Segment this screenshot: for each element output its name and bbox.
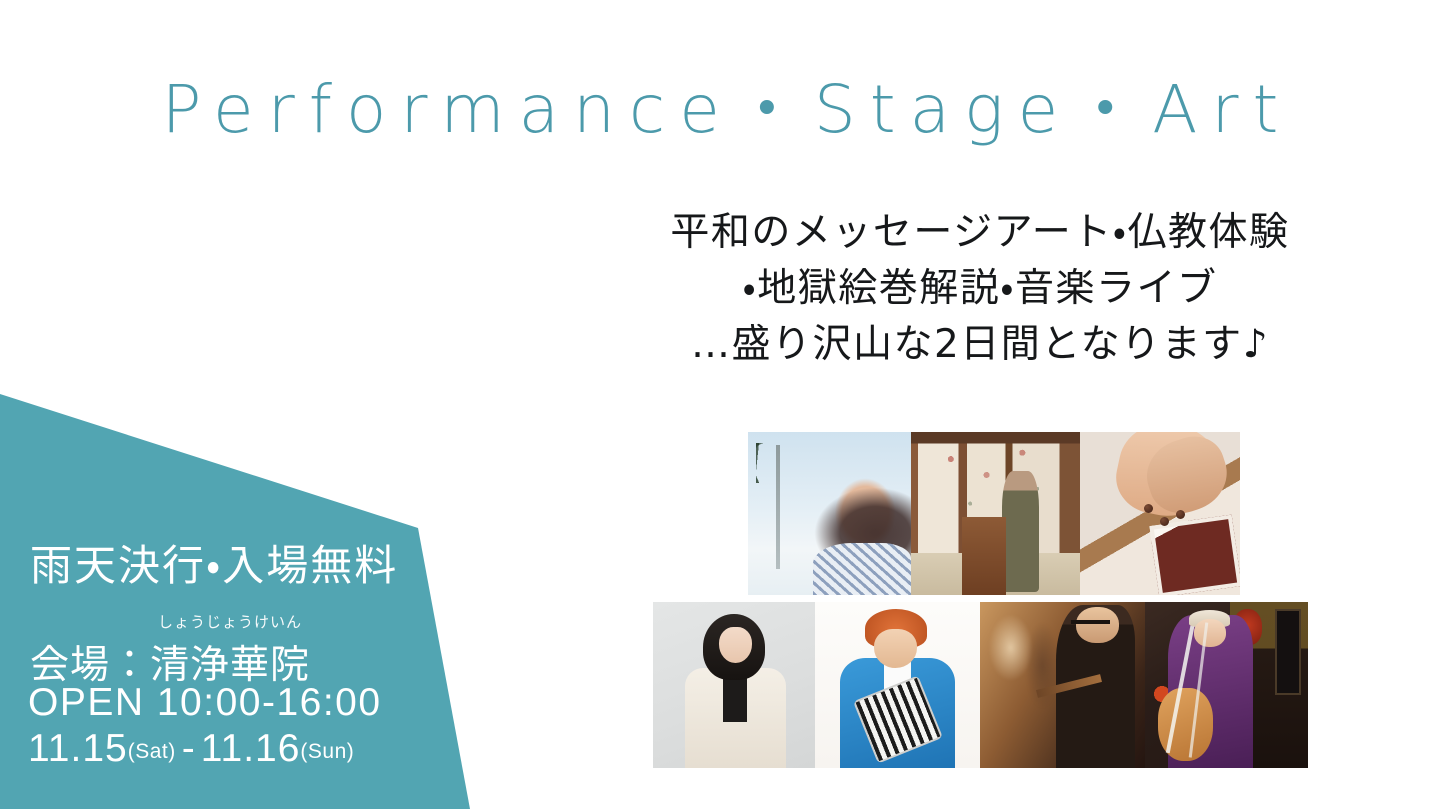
photo-hell-scroll-art <box>911 432 1080 595</box>
photo-guitarist-art <box>980 602 1145 768</box>
monk-figure-shape <box>1002 471 1039 592</box>
podium-shape <box>962 517 1006 595</box>
photo-woman-sky <box>748 432 911 595</box>
info-panel: 雨天決行・入場無料 会場：しょうじょうけいん清浄華院 OPEN 10:00-16… <box>0 0 470 809</box>
head-shape <box>1076 607 1119 644</box>
palm-frond-shape <box>756 443 814 483</box>
event-poster: Performance・Stage・Art 平和のメッセージアート・仏教体験 ・… <box>0 0 1440 809</box>
date-start-dayofweek: (Sat) <box>128 740 176 763</box>
date-start: 11.15 <box>28 727 128 770</box>
date-separator: - <box>176 727 201 770</box>
date-end-dayofweek: (Sun) <box>300 740 354 763</box>
photo-melodica-performer <box>815 602 980 768</box>
bead-tray-shape <box>1149 515 1240 595</box>
photo-melodica-art <box>815 602 980 768</box>
photo-erhu-performer <box>1145 602 1308 768</box>
photo-hell-scroll-lecture <box>911 432 1080 595</box>
photo-bead-making-hands <box>1080 432 1240 595</box>
photo-woman-sky-art <box>748 432 911 595</box>
photo-singer-portrait <box>653 602 815 768</box>
dress-shape <box>813 543 911 595</box>
photo-guitarist <box>980 602 1145 768</box>
photo-bead-making-art <box>1080 432 1240 595</box>
date-end: 11.16 <box>201 727 301 770</box>
admission-note: 雨天決行・入場無料 <box>30 532 398 593</box>
palm-trunk-shape <box>776 445 780 569</box>
bead-shape <box>1160 517 1169 526</box>
event-dates: 11.15(Sat)-11.16(Sun) <box>28 727 354 771</box>
temple-banner-shape <box>1275 609 1301 695</box>
open-hours: OPEN 10:00-16:00 <box>28 681 382 725</box>
glasses-shape <box>1071 620 1111 624</box>
bead-shape <box>1144 504 1153 513</box>
bead-shape <box>1176 510 1185 519</box>
photo-singer-art <box>653 602 815 768</box>
photo-erhu-art <box>1145 602 1308 768</box>
venue-ruby: しょうじょうけいん <box>158 611 302 632</box>
background-blur-shape <box>987 612 1066 732</box>
face-shape <box>1194 619 1227 647</box>
